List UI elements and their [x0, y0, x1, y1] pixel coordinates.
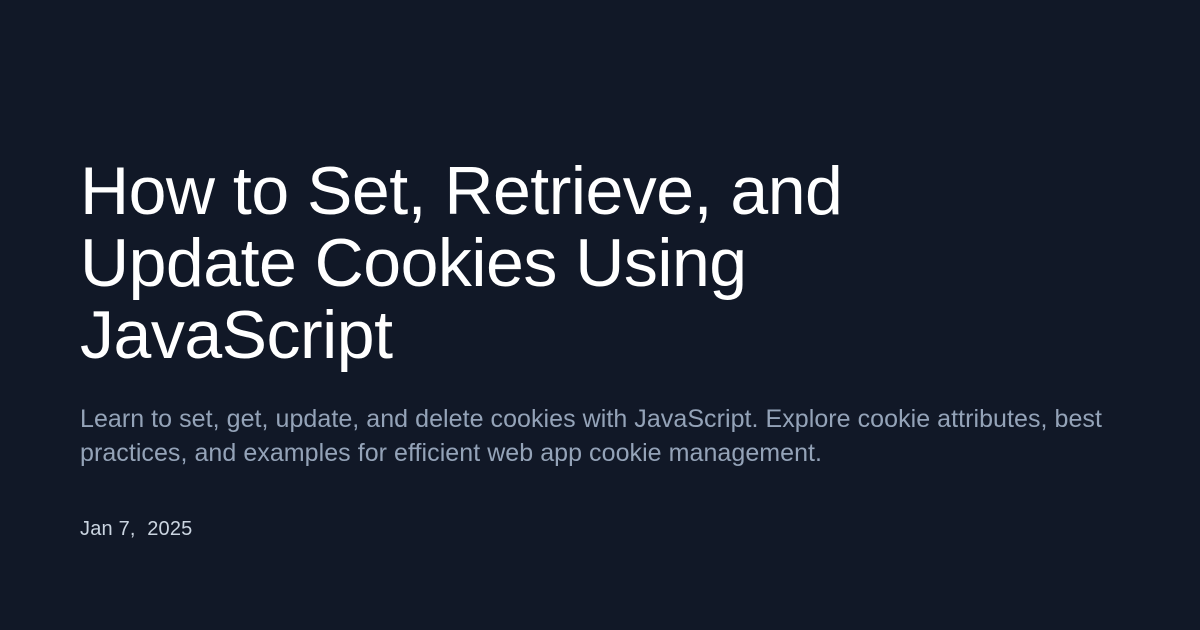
- og-share-card: How to Set, Retrieve, and Update Cookies…: [0, 0, 1200, 630]
- page-subtitle: Learn to set, get, update, and delete co…: [80, 371, 1115, 470]
- card-content: How to Set, Retrieve, and Update Cookies…: [80, 155, 1120, 542]
- publish-date: Jan 7, 2025: [80, 470, 1120, 542]
- page-title: How to Set, Retrieve, and Update Cookies…: [80, 155, 1010, 371]
